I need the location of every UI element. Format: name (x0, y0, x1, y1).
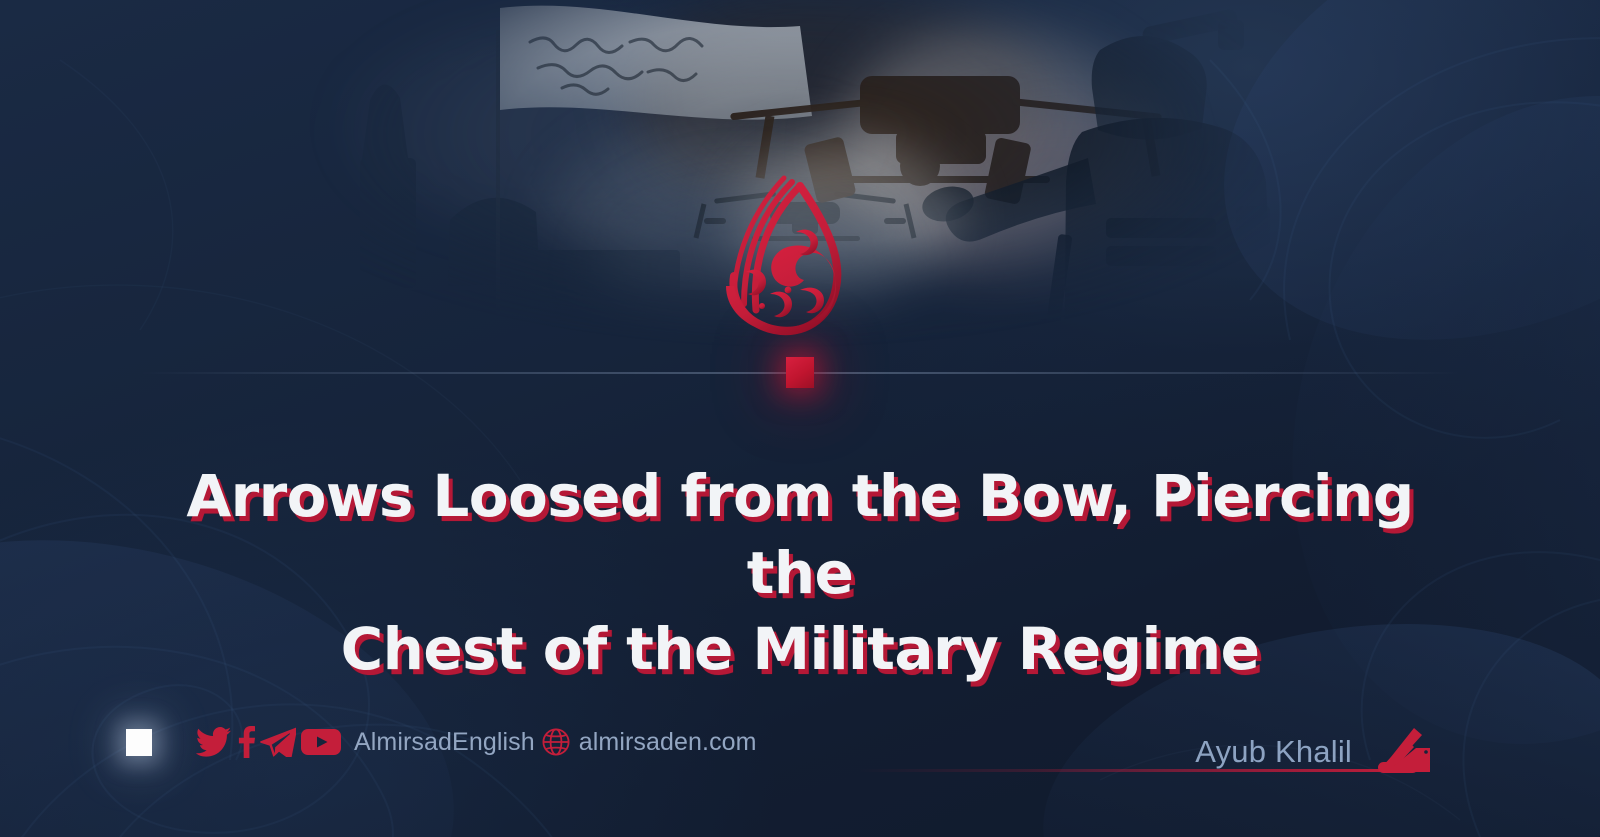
author-block: Ayub Khalil (1195, 726, 1434, 778)
youtube-icon[interactable] (301, 727, 341, 757)
page-title: Arrows Loosed from the Bow, Piercing the… (150, 458, 1450, 688)
background-swirl-ornament (0, 0, 1600, 837)
globe-icon (542, 728, 570, 756)
author-name: Ayub Khalil (1195, 734, 1352, 770)
facebook-icon[interactable] (237, 726, 255, 758)
background-blobs (0, 0, 1600, 837)
news-graphic-card: Arrows Loosed from the Bow, Piercing the… (0, 0, 1600, 837)
twitter-icon[interactable] (196, 727, 232, 757)
almirsad-logo (700, 168, 900, 348)
telegram-icon[interactable] (260, 727, 296, 757)
website-url: almirsaden.com (579, 728, 757, 757)
social-handle: AlmirsadEnglish (354, 728, 535, 757)
footer-marker (126, 729, 152, 756)
footer-left: AlmirsadEnglish almirsaden.com (126, 726, 757, 758)
divider-marker (786, 357, 814, 388)
social-icon-group (196, 726, 341, 758)
writing-hand-pen-icon (1364, 726, 1434, 778)
